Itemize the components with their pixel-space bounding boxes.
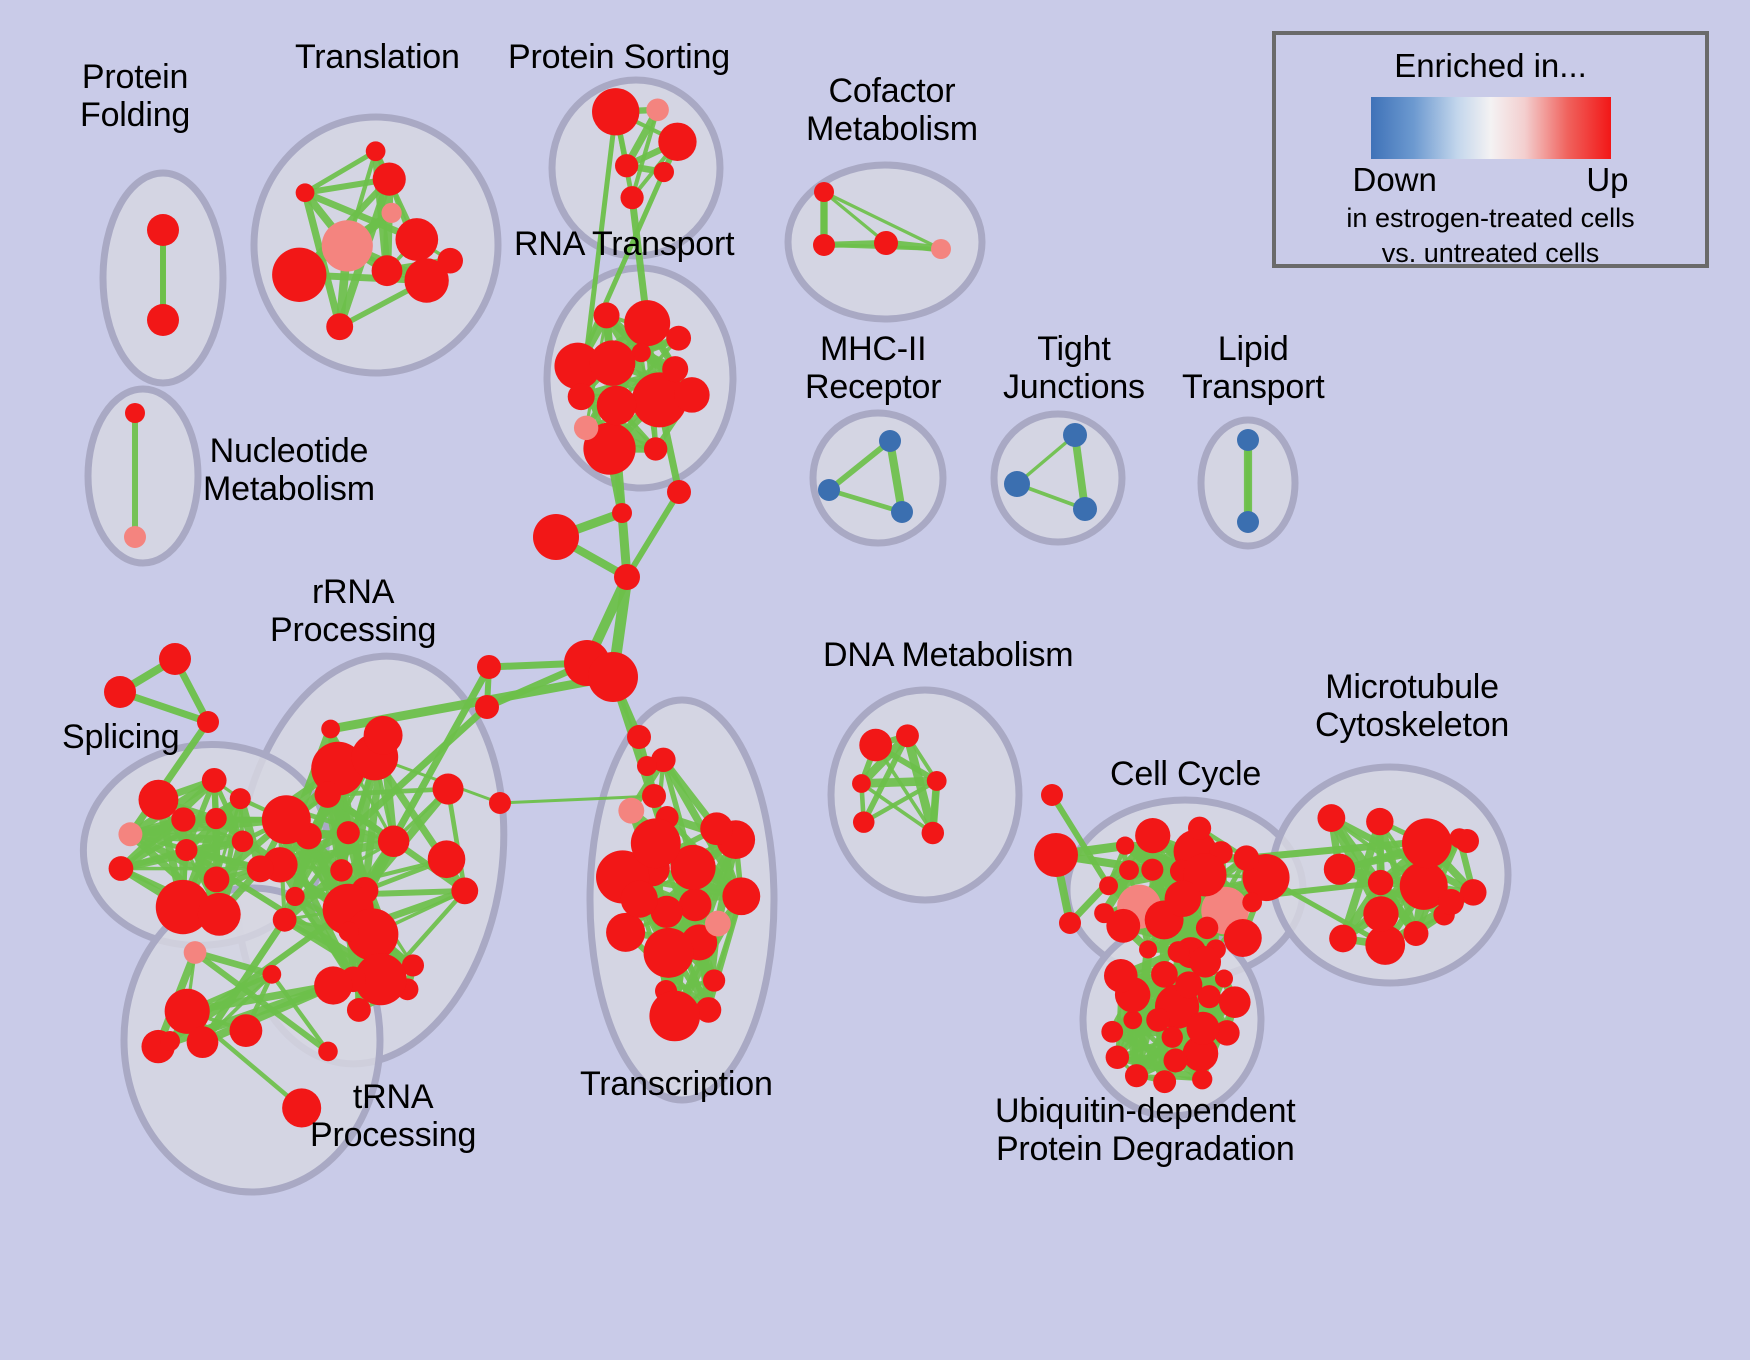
network-node[interactable] bbox=[614, 564, 640, 590]
network-node[interactable] bbox=[1363, 896, 1398, 931]
network-node[interactable] bbox=[273, 908, 297, 932]
network-node[interactable] bbox=[654, 162, 674, 182]
network-node[interactable] bbox=[618, 798, 644, 824]
network-node[interactable] bbox=[679, 888, 712, 921]
network-node[interactable] bbox=[1403, 921, 1428, 946]
cluster-label-nucleotide-metabolism: Nucleotide Metabolism bbox=[203, 432, 375, 508]
network-node[interactable] bbox=[592, 88, 639, 135]
network-node[interactable] bbox=[1101, 1021, 1123, 1043]
network-node[interactable] bbox=[1317, 804, 1345, 832]
network-node[interactable] bbox=[104, 676, 136, 708]
legend-box: Enriched in... Down Up in estrogen-treat… bbox=[1272, 31, 1709, 268]
network-node[interactable] bbox=[674, 377, 710, 413]
network-node[interactable] bbox=[1366, 808, 1393, 835]
network-node[interactable] bbox=[451, 877, 478, 904]
edge bbox=[861, 781, 936, 784]
network-node[interactable] bbox=[705, 911, 731, 937]
network-node[interactable] bbox=[637, 756, 657, 776]
network-node[interactable] bbox=[262, 965, 281, 984]
network-node[interactable] bbox=[314, 781, 340, 807]
network-node[interactable] bbox=[590, 340, 635, 385]
network-node[interactable] bbox=[597, 386, 637, 426]
network-node[interactable] bbox=[667, 480, 691, 504]
cluster-label-rrna-processing: rRNA Processing bbox=[270, 573, 436, 649]
network-node[interactable] bbox=[1224, 919, 1262, 957]
network-node[interactable] bbox=[662, 356, 688, 382]
network-node[interactable] bbox=[1455, 829, 1479, 853]
cluster-label-trna-processing: tRNA Processing bbox=[310, 1078, 476, 1154]
network-node[interactable] bbox=[272, 248, 326, 302]
cluster-label-cell-cycle: Cell Cycle bbox=[1110, 755, 1261, 793]
network-node[interactable] bbox=[339, 922, 359, 942]
network-node[interactable] bbox=[125, 403, 145, 423]
network-node[interactable] bbox=[615, 154, 638, 177]
cluster-label-rna-transport: RNA Transport bbox=[514, 225, 734, 263]
network-node[interactable] bbox=[285, 887, 304, 906]
network-node[interactable] bbox=[896, 724, 919, 747]
network-node[interactable] bbox=[646, 99, 669, 122]
network-node[interactable] bbox=[184, 941, 207, 964]
network-node[interactable] bbox=[644, 437, 667, 460]
network-node[interactable] bbox=[428, 840, 466, 878]
network-node[interactable] bbox=[574, 416, 598, 440]
network-node[interactable] bbox=[366, 141, 386, 161]
network-node[interactable] bbox=[922, 822, 944, 844]
network-node[interactable] bbox=[347, 998, 371, 1022]
network-node[interactable] bbox=[477, 655, 501, 679]
network-node[interactable] bbox=[1059, 912, 1081, 934]
network-node[interactable] bbox=[314, 966, 352, 1004]
cluster-label-dna-metabolism: DNA Metabolism bbox=[823, 636, 1073, 674]
network-node[interactable] bbox=[879, 430, 901, 452]
network-node[interactable] bbox=[649, 991, 700, 1042]
network-node[interactable] bbox=[1219, 986, 1251, 1018]
network-node[interactable] bbox=[852, 774, 871, 793]
network-node[interactable] bbox=[202, 768, 227, 793]
cluster-label-lipid-transport: Lipid Transport bbox=[1182, 330, 1324, 406]
network-node[interactable] bbox=[1175, 971, 1202, 998]
network-node[interactable] bbox=[373, 163, 406, 196]
network-node[interactable] bbox=[533, 514, 579, 560]
network-node[interactable] bbox=[1004, 471, 1030, 497]
network-node[interactable] bbox=[722, 877, 760, 915]
network-node[interactable] bbox=[644, 928, 694, 978]
cluster-label-translation: Translation bbox=[295, 38, 460, 76]
cluster-label-microtubule-cytoskeleton: Microtubule Cytoskeleton bbox=[1315, 668, 1509, 744]
network-node[interactable] bbox=[1034, 833, 1078, 877]
network-node[interactable] bbox=[109, 856, 134, 881]
cluster-label-splicing: Splicing bbox=[62, 718, 179, 756]
network-node[interactable] bbox=[1151, 961, 1178, 988]
cluster-label-ubiquitin-protein-degradation: Ubiquitin-dependent Protein Degradation bbox=[995, 1092, 1296, 1168]
network-node[interactable] bbox=[1438, 889, 1464, 915]
network-node[interactable] bbox=[198, 893, 241, 936]
network-node[interactable] bbox=[700, 812, 733, 845]
enrichment-map-figure: Protein Folding Translation Protein Sort… bbox=[0, 0, 1750, 1360]
network-node[interactable] bbox=[204, 866, 230, 892]
network-node[interactable] bbox=[337, 821, 360, 844]
network-node[interactable] bbox=[624, 300, 670, 346]
network-node[interactable] bbox=[124, 526, 146, 548]
network-node[interactable] bbox=[197, 711, 219, 733]
network-node[interactable] bbox=[818, 479, 840, 501]
network-node[interactable] bbox=[1125, 1064, 1148, 1087]
network-node[interactable] bbox=[1168, 941, 1190, 963]
network-node[interactable] bbox=[1192, 1069, 1212, 1089]
network-node[interactable] bbox=[621, 881, 658, 918]
network-node[interactable] bbox=[147, 214, 179, 246]
network-node[interactable] bbox=[229, 1014, 262, 1047]
network-node[interactable] bbox=[859, 729, 892, 762]
network-node[interactable] bbox=[1104, 959, 1138, 993]
network-node[interactable] bbox=[814, 182, 834, 202]
network-node[interactable] bbox=[372, 255, 403, 286]
cluster-label-mhc-ii-receptor: MHC-II Receptor bbox=[805, 330, 941, 406]
network-node[interactable] bbox=[658, 123, 696, 161]
network-node[interactable] bbox=[160, 1031, 180, 1051]
network-node[interactable] bbox=[1237, 429, 1259, 451]
network-node[interactable] bbox=[433, 774, 464, 805]
network-node[interactable] bbox=[1139, 940, 1157, 958]
edge bbox=[627, 492, 679, 577]
network-node[interactable] bbox=[1106, 909, 1140, 943]
network-node[interactable] bbox=[247, 855, 274, 882]
network-node[interactable] bbox=[205, 808, 226, 829]
network-node[interactable] bbox=[175, 839, 197, 861]
network-node[interactable] bbox=[1119, 860, 1139, 880]
network-node[interactable] bbox=[703, 969, 725, 991]
network-node[interactable] bbox=[489, 792, 511, 814]
legend-up-label: Up bbox=[1586, 161, 1628, 199]
network-node[interactable] bbox=[395, 218, 438, 261]
network-node[interactable] bbox=[159, 643, 191, 675]
network-node[interactable] bbox=[931, 239, 951, 259]
network-node[interactable] bbox=[1329, 925, 1357, 953]
legend-title: Enriched in... bbox=[1276, 47, 1705, 85]
network-node[interactable] bbox=[139, 780, 179, 820]
cluster-label-protein-sorting: Protein Sorting bbox=[508, 38, 730, 76]
cluster-label-transcription: Transcription bbox=[580, 1065, 773, 1103]
cluster-label-protein-folding: Protein Folding bbox=[80, 58, 190, 134]
network-node[interactable] bbox=[1196, 917, 1218, 939]
cluster-label-cofactor-metabolism: Cofactor Metabolism bbox=[806, 72, 978, 148]
network-node[interactable] bbox=[627, 725, 651, 749]
network-node[interactable] bbox=[296, 183, 315, 202]
network-node[interactable] bbox=[404, 258, 448, 302]
network-node[interactable] bbox=[1153, 1070, 1176, 1093]
network-node[interactable] bbox=[1063, 423, 1087, 447]
network-node[interactable] bbox=[813, 234, 835, 256]
network-node[interactable] bbox=[1146, 1008, 1170, 1032]
network-node[interactable] bbox=[318, 1042, 338, 1062]
network-node[interactable] bbox=[874, 231, 898, 255]
network-node[interactable] bbox=[1324, 854, 1355, 885]
network-node[interactable] bbox=[475, 695, 499, 719]
network-node[interactable] bbox=[1368, 870, 1393, 895]
network-node[interactable] bbox=[232, 831, 254, 853]
network-node[interactable] bbox=[666, 326, 691, 351]
network-node[interactable] bbox=[853, 811, 875, 833]
network-node[interactable] bbox=[326, 313, 353, 340]
network-node[interactable] bbox=[262, 795, 311, 844]
network-node[interactable] bbox=[594, 302, 620, 328]
network-node[interactable] bbox=[1163, 1048, 1187, 1072]
legend-down-label: Down bbox=[1353, 161, 1437, 199]
cluster-label-tight-junctions: Tight Junctions bbox=[1003, 330, 1145, 406]
network-node[interactable] bbox=[568, 383, 595, 410]
network-node[interactable] bbox=[1186, 1012, 1219, 1045]
network-node[interactable] bbox=[612, 503, 632, 523]
network-node[interactable] bbox=[330, 859, 352, 881]
network-node[interactable] bbox=[1188, 817, 1211, 840]
network-node[interactable] bbox=[1165, 880, 1202, 917]
legend-color-gradient bbox=[1371, 97, 1611, 159]
network-node[interactable] bbox=[378, 826, 410, 858]
network-node[interactable] bbox=[171, 807, 195, 831]
network-node[interactable] bbox=[1099, 876, 1118, 895]
legend-caption-line-1: in estrogen-treated cells bbox=[1276, 203, 1705, 234]
network-node[interactable] bbox=[1402, 818, 1452, 868]
network-node[interactable] bbox=[187, 1026, 219, 1058]
network-node[interactable] bbox=[1123, 1010, 1142, 1029]
network-node[interactable] bbox=[621, 186, 644, 209]
network-node[interactable] bbox=[1116, 836, 1134, 854]
network-node[interactable] bbox=[1237, 511, 1259, 533]
network-node[interactable] bbox=[322, 220, 373, 271]
network-node[interactable] bbox=[642, 784, 666, 808]
cluster-ellipse-mhc-ii-receptor bbox=[813, 413, 943, 543]
legend-caption-line-2: vs. untreated cells bbox=[1276, 238, 1705, 269]
network-node[interactable] bbox=[1106, 1046, 1129, 1069]
network-node[interactable] bbox=[927, 771, 947, 791]
network-node[interactable] bbox=[230, 788, 251, 809]
network-node[interactable] bbox=[382, 203, 402, 223]
network-node[interactable] bbox=[1234, 845, 1259, 870]
network-node[interactable] bbox=[364, 716, 403, 755]
network-node[interactable] bbox=[631, 818, 681, 868]
network-node[interactable] bbox=[1215, 970, 1233, 988]
network-node[interactable] bbox=[1073, 497, 1097, 521]
network-node[interactable] bbox=[1242, 893, 1262, 913]
network-node[interactable] bbox=[321, 720, 340, 739]
network-node[interactable] bbox=[1141, 859, 1163, 881]
network-node[interactable] bbox=[118, 822, 142, 846]
network-node[interactable] bbox=[147, 304, 179, 336]
network-node[interactable] bbox=[606, 913, 645, 952]
network-node[interactable] bbox=[1135, 818, 1170, 853]
network-node[interactable] bbox=[1041, 784, 1063, 806]
network-node[interactable] bbox=[588, 652, 638, 702]
network-node[interactable] bbox=[891, 501, 913, 523]
